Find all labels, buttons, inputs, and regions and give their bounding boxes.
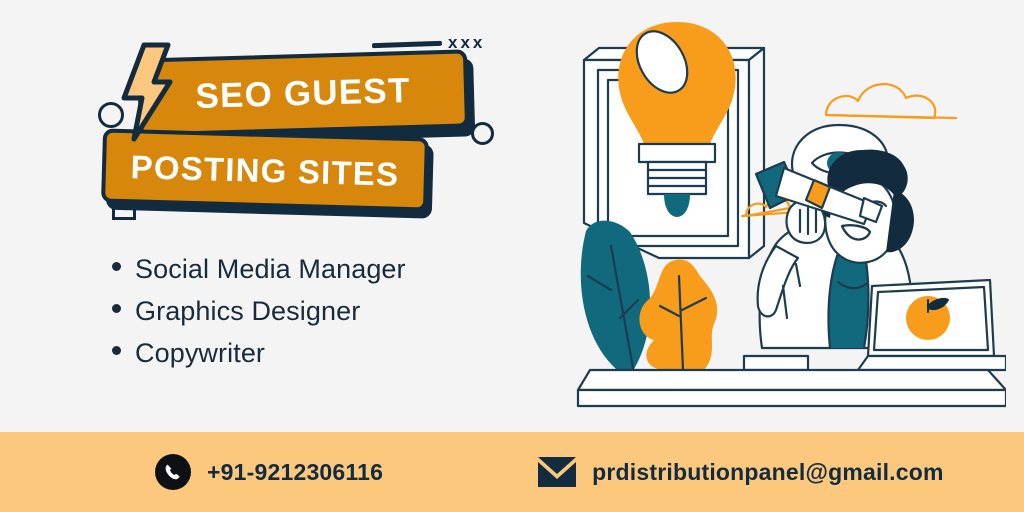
- service-label: Graphics Designer: [135, 290, 360, 332]
- services-list: Social Media Manager Graphics Designer C…: [112, 248, 406, 374]
- title-group: xxx + SEO GUEST POSTING SITES: [96, 30, 496, 220]
- title-line1-text: SEO GUEST: [195, 73, 411, 114]
- list-item: Graphics Designer: [112, 290, 406, 332]
- contact-phone[interactable]: +91-9212306116: [155, 454, 383, 490]
- plant-blob-icon: [639, 260, 717, 370]
- bullet-icon: [112, 346, 121, 355]
- illustration-person-with-telescope: [576, 18, 1006, 418]
- service-label: Copywriter: [135, 332, 265, 374]
- seo-guest-posting-banner: xxx + SEO GUEST POSTING SITES Social Med…: [0, 0, 1024, 512]
- envelope-icon: [538, 457, 576, 487]
- service-label: Social Media Manager: [135, 248, 406, 290]
- title-line2-text: POSTING SITES: [130, 150, 399, 190]
- deco-circle-right: [471, 122, 494, 145]
- phone-number-text: +91-9212306116: [207, 459, 383, 486]
- deco-xxx: xxx: [448, 34, 485, 51]
- contact-footer-bar: +91-9212306116 prdistributionpanel@gmail…: [0, 432, 1024, 512]
- bullet-icon: [112, 304, 121, 313]
- list-item: Copywriter: [112, 332, 406, 374]
- left-content-panel: xxx + SEO GUEST POSTING SITES Social Med…: [0, 0, 540, 432]
- email-address-text: prdistributionpanel@gmail.com: [592, 459, 944, 486]
- deco-dash-top: [372, 41, 442, 48]
- list-item: Social Media Manager: [112, 248, 406, 290]
- shelf: [578, 370, 1006, 406]
- bullet-icon: [112, 262, 121, 271]
- contact-email[interactable]: prdistributionpanel@gmail.com: [538, 457, 944, 487]
- title-ribbon-line1: SEO GUEST: [137, 49, 469, 136]
- cloud-icon: [826, 84, 956, 118]
- phone-icon: [155, 454, 191, 490]
- laptop-icon: [858, 280, 1006, 370]
- lightning-bolt-icon: [118, 42, 174, 142]
